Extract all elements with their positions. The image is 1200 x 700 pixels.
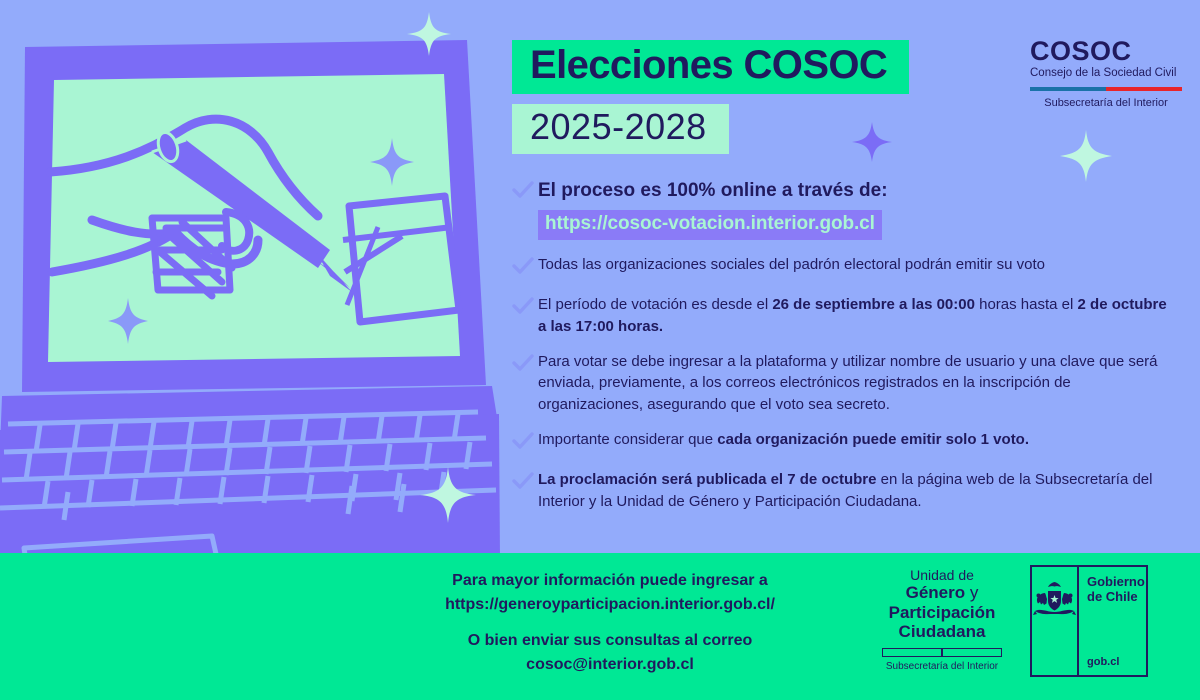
page-years: 2025-2028 xyxy=(530,108,707,146)
check-icon xyxy=(512,429,538,456)
footer: Para mayor información puede ingresar a … xyxy=(0,553,1200,700)
check-icon xyxy=(512,351,538,378)
gobierno-text-panel: Gobierno de Chile gob.cl xyxy=(1079,567,1146,675)
footer-info-url[interactable]: https://generoyparticipacion.interior.go… xyxy=(445,596,775,613)
check-icon xyxy=(512,469,538,496)
chile-coat-of-arms-icon xyxy=(1032,567,1079,675)
bullet-un-voto-seg-1: cada organización puede emitir solo 1 vo… xyxy=(717,431,1029,448)
unidad-line-1: Unidad de xyxy=(868,567,1016,583)
unidad-line-4: Ciudadana xyxy=(868,622,1016,642)
bullet-proclamacion: La proclamación será publicada el 7 de o… xyxy=(512,469,1172,513)
bullet-list: El proceso es 100% online a través de: h… xyxy=(512,178,1172,525)
page-years-band: 2025-2028 xyxy=(512,104,729,154)
footer-contact-line: O bien enviar sus consultas al correo xyxy=(330,629,890,653)
cosoc-logo: COSOC Consejo de la Sociedad Civil Subse… xyxy=(1030,38,1182,109)
footer-contact-block: Para mayor información puede ingresar a … xyxy=(330,569,890,677)
bullet-online-process-text: El proceso es 100% online a través de: xyxy=(538,180,888,201)
bullet-como-votar-text: Para votar se debe ingresar a la platafo… xyxy=(538,351,1172,416)
bullet-un-voto: Importante considerar que cada organizac… xyxy=(512,429,1172,456)
check-icon xyxy=(512,178,538,205)
bullet-un-voto-seg-0: Importante considerar que xyxy=(538,431,717,448)
unidad-genero-word: Género xyxy=(906,583,966,602)
cosoc-logo-subtitle: Consejo de la Sociedad Civil xyxy=(1030,66,1182,80)
unidad-bar-right xyxy=(942,648,1002,657)
page-title: Elecciones COSOC xyxy=(530,45,887,85)
check-icon xyxy=(512,294,538,321)
unidad-line-3: Participación xyxy=(868,603,1016,623)
bullet-proclamacion-seg-0: La proclamación será publicada el 7 de o… xyxy=(538,471,876,488)
bullet-periodo-votacion: El período de votación es desde el 26 de… xyxy=(512,294,1172,338)
bullet-padron-electoral-text: Todas las organizaciones sociales del pa… xyxy=(538,254,1045,276)
cosoc-logo-acronym: COSOC xyxy=(1030,38,1182,65)
unidad-bar-left xyxy=(882,648,942,657)
flag-bar-blue xyxy=(1030,87,1106,91)
flag-bar-red xyxy=(1106,87,1182,91)
check-icon xyxy=(512,254,538,281)
unidad-divider-bar xyxy=(882,648,1002,657)
footer-info-line: Para mayor información puede ingresar a xyxy=(330,569,890,593)
unidad-genero-logo: Unidad de Género y Participación Ciudada… xyxy=(868,567,1016,673)
gobierno-de-chile-logo: Gobierno de Chile gob.cl xyxy=(1030,565,1148,677)
page-title-band: Elecciones COSOC xyxy=(512,40,909,94)
unidad-line-2: Género y xyxy=(868,583,1016,603)
unidad-department: Subsecretaría del Interior xyxy=(868,661,1016,673)
footer-contact-email[interactable]: cosoc@interior.gob.cl xyxy=(526,656,694,673)
voting-url-link[interactable]: https://cosoc-votacion.interior.gob.cl xyxy=(538,210,882,241)
bullet-padron-electoral: Todas las organizaciones sociales del pa… xyxy=(512,254,1172,281)
gobierno-name-line-1: Gobierno xyxy=(1087,575,1146,590)
unidad-y-word: y xyxy=(965,583,978,602)
cosoc-logo-department: Subsecretaría del Interior xyxy=(1030,97,1182,109)
gobierno-name-line-2: de Chile xyxy=(1087,590,1146,605)
gobierno-website: gob.cl xyxy=(1087,656,1119,668)
bullet-como-votar: Para votar se debe ingresar a la platafo… xyxy=(512,351,1172,416)
bullet-periodo-seg-2: horas hasta el xyxy=(975,296,1078,313)
chile-flag-bar xyxy=(1030,87,1182,91)
bullet-online-process: El proceso es 100% online a través de: h… xyxy=(512,178,1172,240)
bullet-periodo-seg-0: El período de votación es desde el xyxy=(538,296,772,313)
bullet-periodo-seg-1: 26 de septiembre a las 00:00 xyxy=(772,296,975,313)
